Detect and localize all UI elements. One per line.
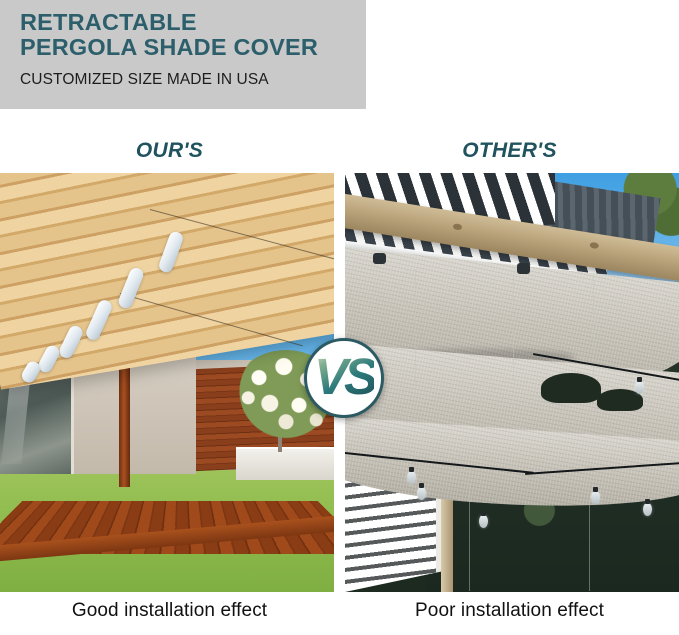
- light-bulb: [407, 471, 416, 484]
- wood-knot: [453, 223, 463, 230]
- light-bulb: [643, 503, 652, 516]
- photo-ours-scene: [0, 173, 334, 592]
- light-bulb: [479, 515, 488, 528]
- white-planter: [236, 447, 334, 480]
- label-ours: OUR'S: [0, 139, 339, 163]
- mesh-gap: [541, 373, 601, 403]
- wood-knot: [589, 242, 599, 249]
- mesh-seam: [513, 271, 514, 381]
- hanging-cord: [469, 483, 470, 591]
- light-bulb: [635, 381, 644, 394]
- mesh-clamp: [517, 263, 530, 274]
- vs-badge: VS: [304, 338, 384, 418]
- photo-others: [345, 173, 679, 592]
- mesh-seam: [415, 269, 416, 389]
- label-others: OTHER'S: [340, 139, 679, 163]
- caption-poor: Poor installation effect: [340, 600, 679, 622]
- light-bulb: [591, 491, 600, 504]
- light-bulb: [417, 487, 426, 500]
- header-banner: RETRACTABLE PERGOLA SHADE COVER CUSTOMIZ…: [0, 0, 366, 109]
- mesh-seam: [593, 273, 594, 377]
- page-title-line-1: RETRACTABLE: [20, 10, 366, 35]
- header-subtitle: CUSTOMIZED SIZE MADE IN USA: [20, 71, 366, 89]
- photo-ours: [0, 173, 334, 592]
- mesh-clamp: [373, 253, 386, 264]
- vs-badge-label: VS: [314, 351, 374, 402]
- comparison-labels-row: OUR'S OTHER'S: [0, 139, 679, 173]
- pergola-post: [119, 357, 130, 487]
- photo-others-scene: [345, 173, 679, 592]
- hanging-cord: [589, 503, 590, 591]
- product-comparison-page: RETRACTABLE PERGOLA SHADE COVER CUSTOMIZ…: [0, 0, 679, 635]
- page-title-line-2: PERGOLA SHADE COVER: [20, 35, 366, 60]
- captions-row: Good installation effect Poor installati…: [0, 600, 679, 635]
- caption-good: Good installation effect: [0, 600, 339, 622]
